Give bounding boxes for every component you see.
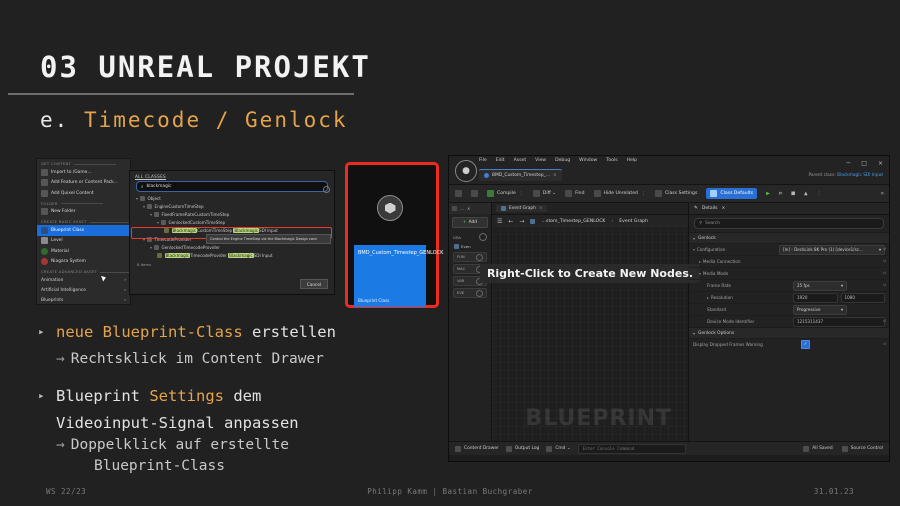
breadcrumb-graph[interactable]: Event Graph (619, 219, 648, 224)
details-panel: ✎ Details × ⚲ Search ▾ Genlock ▾Configur… (688, 203, 889, 441)
add-function-icon[interactable] (476, 254, 483, 261)
diff-icon (533, 190, 540, 197)
row-display-dropped-frames: Display Dropped Frames Warning ✓ ↺ (689, 338, 889, 350)
label-text: Resolution (711, 295, 733, 300)
asset-card[interactable]: BMD_Custom_Timestep_GENLOCK Blueprint Cl… (354, 171, 426, 297)
reset-icon[interactable]: ↺ (883, 342, 886, 347)
footer-left: WS 22/23 (46, 487, 86, 496)
frame-rate-dropdown[interactable]: 25 fps▾ (793, 281, 847, 291)
footer-center: Philipp Kamm | Bastian Buchgraber (367, 487, 533, 496)
niagara-icon (41, 258, 48, 265)
ctx-submenu-label: Animation (41, 278, 63, 283)
ctx-item-label: Level (51, 238, 63, 243)
row-value: 1920 1080 (793, 293, 885, 303)
panel-icon (452, 206, 457, 211)
bullet-group-2: ▸ Blueprint Settings dem Videoinput-Sign… (38, 386, 438, 477)
history-icon[interactable]: ☰ (497, 218, 502, 225)
twisty-icon[interactable]: ▾ (157, 220, 159, 225)
bullet-2-part-2: Settings (149, 387, 224, 405)
menu-help[interactable]: Help (627, 158, 637, 163)
bullet-1-part-3: erstellen (243, 323, 336, 341)
details-pencil-icon: ✎ (694, 206, 698, 211)
hide-unrelated-icon (594, 190, 601, 197)
hide-unrelated-label: Hide Unrelated (604, 191, 638, 196)
bullet-group-1: ▸ neue Blueprint-Class erstellen →Rechts… (38, 322, 438, 370)
asset-thumbnail (354, 171, 426, 245)
save-button[interactable] (455, 190, 462, 197)
play-icon[interactable]: ▶ (766, 190, 770, 197)
diff-button[interactable]: Diff ⌄ (533, 190, 556, 197)
all-saved-indicator[interactable]: All Saved (803, 446, 832, 452)
add-graph-icon[interactable] (479, 233, 487, 241)
unreal-blueprint-editor-window: ● File Edit Asset View Debug Window Tool… (448, 155, 890, 462)
graph-item-label: Even (461, 244, 471, 249)
slide-footer: WS 22/23 Philipp Kamm | Bastian Buchgrab… (0, 487, 900, 501)
asset-name: BMD_Custom_Timestep_GENLOCK (358, 250, 422, 257)
twisty-icon[interactable]: ▾ (150, 212, 152, 217)
forward-icon[interactable]: → (519, 218, 524, 225)
compile-icon (487, 190, 494, 197)
editor-toolbar: Compile⋮ Diff ⌄ Find Hide Unrelated⋮ Cla… (449, 185, 889, 203)
feature-pack-icon (41, 179, 48, 186)
title-divider (8, 93, 354, 95)
dropdown-value: Progressive (797, 307, 821, 312)
source-control-button[interactable]: Source Control (842, 446, 883, 452)
ctx-item-add-feature[interactable]: Add Feature or Content Pack... (37, 178, 130, 189)
blueprint-dot-icon (484, 173, 489, 178)
step-icon[interactable]: ⊳ (779, 190, 783, 197)
close-window-icon[interactable]: × (878, 160, 883, 167)
row-label: ▸Media Connection (693, 259, 785, 264)
content-drawer-button[interactable]: Content Drawer (455, 446, 499, 452)
row-label: Display Dropped Frames Warning (693, 342, 801, 347)
search-icon: ⌕ (141, 184, 143, 190)
bullet-2-sub-line-2: Blueprint-Class (80, 456, 438, 477)
tree-row-label: FixedFrameRateCustomTimeStep (162, 212, 230, 217)
plus-icon: + (463, 220, 467, 225)
graph-tab-bar: Event Graph× (492, 203, 688, 215)
class-tree: ▾Object ▾EngineCustomTimeStep ▾FixedFram… (130, 194, 334, 260)
class-defaults-label: Class Defaults (720, 191, 753, 196)
add-dispatcher-icon[interactable] (476, 290, 483, 297)
ctx-item-import[interactable]: Import to /Game... (37, 167, 130, 178)
ctx-item-label: Material (51, 249, 69, 254)
quixel-icon (41, 190, 48, 197)
bullet-1-part-1: neue (56, 323, 103, 341)
tree-row-suffix: SDI Input (259, 228, 278, 233)
reset-icon[interactable]: ↺ (883, 283, 886, 288)
bullet-text-1: neue Blueprint-Class erstellen (56, 322, 336, 343)
bullet-2-sub-line-1: →Doppelklick auf erstellte (56, 435, 438, 456)
bullet-marker-icon: ▸ (38, 322, 56, 342)
panel-tab-label: … (460, 206, 464, 211)
dropdown-value: [In] - DeckLink 8K Pro (1) [device1/sc… (783, 247, 863, 252)
class-icon (147, 237, 152, 242)
asset-tab[interactable]: BMD_Custom_Timestep_... × (479, 169, 562, 181)
row-resolution: ▸Resolution 1920 1080 (689, 291, 889, 303)
subtitle-index: e. (40, 108, 69, 132)
play-options-icon[interactable]: ⋮ (817, 191, 822, 197)
toolbar-overflow-icon[interactable]: » (880, 190, 884, 197)
bullet-1-sub-text: Rechtsklick im Content Drawer (71, 351, 324, 367)
device-mode-identifier-field[interactable]: 1215311437 (793, 317, 885, 327)
log-icon (506, 446, 512, 452)
row-label: Device Mode Identifier (693, 319, 793, 324)
label-text: Standard (707, 307, 726, 312)
ctx-item-label: Blueprint Class (51, 228, 84, 233)
ctx-section-label: CREATE BASIC ASSET (41, 220, 87, 224)
parent-class-value[interactable]: Blackmagic SDI Input (837, 173, 883, 178)
settings-gear-icon[interactable] (323, 186, 330, 193)
editor-status-bar: Content Drawer Output Log Cmd ⌄ Enter Co… (449, 441, 889, 455)
section-rule (74, 164, 116, 165)
twisty-icon[interactable]: ▾ (693, 331, 695, 336)
resolution-height-field[interactable]: 1080 (841, 293, 886, 303)
ctx-item-label: Niagara System (51, 259, 86, 264)
twisty-icon[interactable]: ▾ (693, 247, 695, 252)
ctx-item-new-folder[interactable]: New Folder (37, 207, 130, 218)
variables-label: VAR (457, 279, 464, 283)
ctx-submenu-label: Artificial Intelligence (41, 288, 86, 293)
console-command-input[interactable]: Enter Console Command (578, 444, 686, 454)
minimize-icon[interactable]: ─ (847, 160, 851, 167)
chevron-down-icon: ▾ (841, 307, 843, 312)
ctx-submenu-animation[interactable]: Animation› (37, 275, 130, 285)
functions-label: FUN (457, 255, 465, 259)
configuration-dropdown[interactable]: [In] - DeckLink 8K Pro (1) [device1/sc…▾ (779, 245, 885, 255)
ctx-item-label: Import to /Game... (51, 170, 92, 175)
parent-class-info: Parent class: Blackmagic SDI Input (808, 173, 883, 178)
row-value: 25 fps▾ (793, 281, 885, 291)
row-value: 1215311437 (793, 317, 885, 327)
row-configuration: ▾Configuration [In] - DeckLink 8K Pro (1… (689, 243, 889, 255)
status-right-group: All Saved Source Control (803, 446, 883, 452)
stop-icon[interactable]: ■ (791, 190, 795, 197)
search-icon: ⚲ (699, 221, 702, 226)
tree-row-suffix: SDI Input (254, 253, 273, 258)
class-icon (164, 228, 169, 233)
ctx-item-material[interactable]: Material (37, 246, 130, 257)
compile-options-icon[interactable]: ⋮ (519, 191, 524, 197)
bullet-2-l2-part-1: Videoinput-Signal (56, 414, 224, 432)
item-count-label: 8 items (130, 260, 334, 267)
class-defaults-icon (710, 190, 717, 197)
blueprint-class-icon (41, 227, 48, 234)
output-log-label: Output Log (515, 446, 540, 451)
menu-asset[interactable]: Asset (514, 158, 527, 163)
ctx-section-get-content: GET CONTENT (37, 159, 130, 167)
content-drawer-context-menu: GET CONTENT Import to /Game... Add Featu… (36, 158, 131, 305)
twisty-icon[interactable]: ▾ (136, 196, 138, 201)
folder-icon (41, 208, 48, 215)
close-icon[interactable]: × (539, 206, 543, 211)
slide-root: 03 UNREAL PROJEKT e. Timecode / Genlock … (0, 0, 900, 506)
label-text: Frame Rate (707, 283, 731, 288)
tree-row-label: EngineCustomTimeStep (155, 204, 204, 209)
tree-row-fixed-framerate[interactable]: ▾FixedFrameRateCustomTimeStep (136, 210, 328, 218)
reset-icon[interactable]: ↺ (883, 271, 886, 276)
dialog-header: ALL CLASSES (130, 171, 334, 180)
bullet-2-sub-text-2: Blueprint-Class (94, 458, 225, 474)
ctx-item-quixel[interactable]: Add Quixel Content (37, 188, 130, 199)
class-icon (157, 253, 162, 258)
eject-icon[interactable]: ▲ (804, 190, 808, 197)
bullet-2-part-3: dem (224, 387, 261, 405)
twisty-icon[interactable]: ▾ (143, 204, 145, 209)
drawer-icon (455, 446, 461, 452)
find-icon (565, 190, 572, 197)
tree-row-label: TimecodeProvider (155, 237, 192, 242)
output-log-button[interactable]: Output Log (506, 446, 540, 452)
reset-icon[interactable]: ↺ (883, 259, 886, 264)
tree-row-object[interactable]: ▾Object (136, 194, 328, 202)
close-icon[interactable]: × (553, 173, 557, 178)
label-text: Media Mode (703, 271, 728, 276)
save-icon (455, 190, 462, 197)
cmd-label: Cmd ⌄ (555, 446, 570, 451)
label-text: Device Mode Identifier (707, 319, 754, 324)
find-label: Find (575, 191, 584, 196)
event-dispatchers-section-header[interactable]: EVE (453, 288, 487, 298)
row-media-connection: ▸Media Connection ↺ (689, 255, 889, 267)
subtitle-text: Timecode / Genlock (84, 108, 348, 132)
bullet-1-part-2: Blueprint-Class (103, 323, 243, 341)
functions-section-header[interactable]: FUN (453, 252, 487, 262)
chevron-right-icon: › (124, 288, 126, 293)
page-subtitle: e. Timecode / Genlock (40, 108, 348, 132)
ctx-item-level[interactable]: Level (37, 236, 130, 247)
breadcrumb-asset[interactable]: …stom_Timestep_GENLOCK (541, 219, 605, 224)
sub-arrow-icon: → (56, 437, 65, 453)
material-icon (41, 248, 48, 255)
twisty-icon[interactable]: ▾ (699, 271, 701, 276)
tree-row-label: TimecodeProvider (190, 253, 227, 258)
ctx-submenu-ai[interactable]: Artificial Intelligence› (37, 285, 130, 295)
ctx-item-label: New Folder (51, 209, 76, 214)
close-icon[interactable]: × (721, 206, 725, 211)
menu-tools[interactable]: Tools (606, 158, 617, 163)
ctx-submenu-blueprints[interactable]: Blueprints› (37, 295, 130, 305)
asset-type-label: Blueprint Class (358, 298, 389, 303)
editor-body: …× +Add GRA Even FUN MAC VAR EVE Event G… (449, 203, 889, 441)
twisty-icon[interactable]: ▾ (150, 245, 152, 250)
all-saved-label: All Saved (812, 446, 832, 451)
details-search-placeholder: Search (705, 221, 720, 226)
close-icon[interactable]: × (467, 206, 470, 211)
footer-right: 31.01.23 (814, 487, 854, 496)
source-control-icon (842, 446, 848, 452)
resolution-width-field[interactable]: 1920 (793, 293, 838, 303)
row-value: ✓ (801, 340, 885, 349)
class-search-value: blackmagic (146, 184, 171, 189)
ctx-item-label: Add Feature or Content Pack... (51, 180, 118, 185)
event-dispatchers-label: EVE (457, 291, 464, 295)
unreal-logo-icon: ● (455, 160, 477, 182)
ctx-section-label: CREATE ADVANCED ASSET (41, 270, 97, 274)
class-icon (154, 245, 159, 250)
import-icon (41, 169, 48, 176)
parent-class-label: Parent class: (808, 173, 835, 178)
cancel-button[interactable]: Cancel (300, 279, 328, 289)
bullet-marker-icon: ▸ (38, 386, 56, 406)
ctx-section-folder: FOLDER (37, 199, 130, 207)
hide-unrelated-options-icon[interactable]: ⋮ (641, 191, 646, 197)
tree-row-label-match: Blackmagic (172, 228, 198, 233)
add-button[interactable]: +Add (452, 217, 488, 228)
event-graph-panel: Event Graph× ☰ ← → …stom_Timestep_GENLOC… (492, 203, 688, 441)
cmd-dropdown[interactable]: Cmd ⌄ (546, 446, 570, 452)
class-icon (140, 196, 145, 201)
dropdown-value: 25 fps (797, 283, 810, 288)
class-icon (147, 204, 152, 209)
ctx-item-niagara[interactable]: Niagara System (37, 257, 130, 268)
graph-canvas[interactable]: Right-Click to Create New Nodes. BLUEPRI… (492, 226, 688, 441)
browse-button[interactable] (471, 190, 478, 197)
chevron-right-icon: › (124, 298, 126, 303)
source-control-label: Source Control (851, 446, 883, 451)
twisty-icon[interactable]: ▾ (693, 236, 695, 241)
graphs-section-header[interactable]: GRA (449, 231, 491, 243)
level-icon (41, 237, 48, 244)
details-tab-label[interactable]: Details (702, 206, 718, 211)
maximize-icon[interactable]: □ (861, 160, 867, 167)
blueprint-icon (530, 219, 535, 224)
asset-card-body: BMD_Custom_Timestep_GENLOCK Blueprint Cl… (354, 245, 426, 307)
back-icon[interactable]: ← (508, 218, 513, 225)
tree-row-label: CustomTimeStep (197, 228, 232, 233)
ctx-item-blueprint-class[interactable]: Blueprint Class (37, 225, 130, 236)
sub-arrow-icon: → (56, 351, 65, 367)
chevron-down-icon: ▾ (841, 283, 843, 288)
browse-icon (471, 190, 478, 197)
chevron-down-icon: ▾ (879, 247, 881, 252)
class-search-input[interactable]: ⌕ blackmagic (136, 181, 328, 192)
class-settings-label: Class Settings (665, 191, 697, 196)
category-genlock-options[interactable]: ▾ Genlock Options (689, 327, 889, 338)
category-label: Genlock (698, 236, 716, 241)
ctx-section-create-advanced: CREATE ADVANCED ASSET (37, 267, 130, 275)
class-settings-button[interactable]: Class Settings (655, 190, 697, 197)
menu-view[interactable]: View (535, 158, 546, 163)
ctx-item-label: Add Quixel Content (51, 191, 94, 196)
ctx-section-create-basic: CREATE BASIC ASSET (37, 217, 130, 225)
details-search-input[interactable]: ⚲ Search (694, 218, 884, 229)
class-defaults-button[interactable]: Class Defaults (706, 188, 757, 199)
ctx-submenu-label: Blueprints (41, 298, 63, 303)
event-graph-icon (501, 206, 506, 211)
row-value: [In] - DeckLink 8K Pro (1) [device1/sc…▾ (779, 245, 885, 255)
row-device-mode-identifier: Device Mode Identifier 1215311437 ↺ (689, 315, 889, 327)
class-icon (161, 220, 166, 225)
section-rule (90, 222, 132, 223)
content-drawer-label: Content Drawer (464, 446, 499, 451)
bullet-2-l2-part-2: anpassen (224, 414, 299, 432)
row-value: Progressive▾ (793, 305, 885, 315)
blueprint-cube-icon (377, 195, 403, 221)
row-label: ▸Resolution (693, 295, 793, 300)
bullet-item-2: ▸ Blueprint Settings dem (38, 386, 438, 407)
class-icon (154, 212, 159, 217)
menu-debug[interactable]: Debug (555, 158, 570, 163)
macros-label: MAC (457, 267, 465, 271)
row-label: Standard (693, 307, 793, 312)
tab-event-graph[interactable]: Event Graph× (496, 205, 547, 212)
menu-window[interactable]: Window (579, 158, 597, 163)
tree-row-genlocked-timecode-provider[interactable]: ▾GenlockedTimecodeProvider (136, 243, 328, 251)
graph-item-event-graph[interactable]: Even (449, 243, 491, 250)
bullet-item-1: ▸ neue Blueprint-Class erstellen (38, 322, 438, 343)
row-frame-rate: Frame Rate 25 fps▾ ↺ (689, 279, 889, 291)
tree-row-suffix-match: Blackmagic (228, 253, 254, 258)
ctx-section-label: FOLDER (41, 202, 58, 206)
twisty-icon[interactable]: ▸ (699, 259, 701, 264)
bullet-list: ▸ neue Blueprint-Class erstellen →Rechts… (38, 322, 438, 493)
window-controls: ─ □ × (847, 160, 883, 167)
twisty-icon[interactable]: ▾ (143, 237, 145, 242)
label-text: Configuration (697, 247, 725, 252)
asset-card-highlight: BMD_Custom_Timestep_GENLOCK Blueprint Cl… (345, 162, 439, 308)
breadcrumb-separator-icon: › (611, 219, 613, 224)
label-text: Display Dropped Frames Warning (693, 342, 763, 347)
saved-icon (803, 446, 809, 452)
label-text: Media Connection (703, 259, 741, 264)
tree-row-label: Object (148, 196, 161, 201)
diff-label: Diff ⌄ (543, 191, 556, 196)
compile-button[interactable]: Compile⋮ (487, 190, 524, 197)
graphs-label: GRA (453, 235, 461, 240)
details-tab-bar: ✎ Details × (689, 203, 889, 215)
reset-icon[interactable]: ↺ (883, 319, 886, 324)
bullet-2-sub-text-1: Doppelklick auf erstellte (71, 437, 289, 453)
bullet-text-2: Blueprint Settings dem (56, 386, 261, 407)
cmd-icon (546, 446, 552, 452)
row-standard: Standard Progressive▾ (689, 303, 889, 315)
row-label: ▾Media Mode (693, 271, 785, 276)
display-dropped-frames-checkbox[interactable]: ✓ (801, 340, 810, 349)
ctx-section-label: GET CONTENT (41, 162, 71, 166)
tree-row-label: GenlockedCustomTimeStep (169, 220, 226, 225)
editor-title-bar: ● File Edit Asset View Debug Window Tool… (449, 156, 889, 185)
class-settings-icon (655, 190, 662, 197)
menu-edit[interactable]: Edit (496, 158, 505, 163)
my-blueprint-panel: …× +Add GRA Even FUN MAC VAR EVE (449, 203, 492, 441)
tree-row-label-match: Blackmagic (165, 253, 191, 258)
my-blueprint-tab[interactable]: …× (449, 203, 491, 214)
row-label: Frame Rate (693, 283, 793, 288)
tree-row-suffix-match: Blackmagic (233, 228, 259, 233)
page-title: 03 UNREAL PROJEKT (40, 50, 371, 84)
chevron-right-icon: › (124, 278, 126, 283)
section-rule (61, 203, 103, 204)
tree-row-genlocked-custom-timestep[interactable]: ▾GenlockedCustomTimeStep (136, 219, 328, 227)
bullet-2-line-2: Videoinput-Signal anpassen (56, 413, 438, 435)
graph-hint-text: Right-Click to Create New Nodes. (480, 264, 700, 283)
twisty-icon[interactable]: ▸ (707, 295, 709, 300)
tree-row-blackmagic-timecode-provider[interactable]: BlackmagicTimecodeProvider Blackmagic SD… (136, 251, 328, 259)
compile-label: Compile (497, 191, 516, 196)
standard-dropdown[interactable]: Progressive▾ (793, 305, 847, 315)
class-tooltip: Control the Engine TimeStep via the Blac… (206, 234, 331, 244)
hide-unrelated-button[interactable]: Hide Unrelated⋮ (594, 190, 646, 197)
reset-icon[interactable]: ↺ (883, 247, 886, 252)
row-label: ▾Configuration (693, 247, 779, 252)
asset-tab-label: BMD_Custom_Timestep_... (492, 173, 550, 178)
tree-row-engine-custom-timestep[interactable]: ▾EngineCustomTimeStep (136, 202, 328, 210)
category-genlock[interactable]: ▾ Genlock (689, 232, 889, 243)
menu-file[interactable]: File (479, 158, 487, 163)
tab-label: Event Graph (509, 206, 536, 211)
find-button[interactable]: Find (565, 190, 584, 197)
